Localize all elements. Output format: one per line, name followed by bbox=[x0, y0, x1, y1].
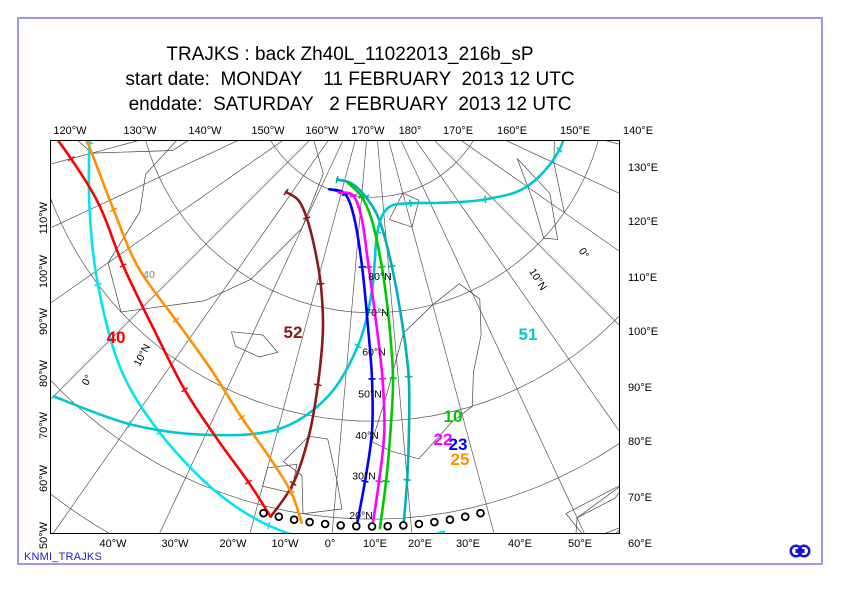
ecmwf-logo bbox=[789, 543, 811, 559]
axis-label-right-1: 120°E bbox=[628, 216, 658, 228]
axis-label-right-4: 90°E bbox=[628, 382, 652, 394]
axis-label-bottom-5: 10°E bbox=[363, 538, 387, 550]
axis-label-bottom-4: 0° bbox=[325, 538, 336, 550]
axis-label-top-4: 160°W bbox=[305, 125, 338, 137]
axis-label-top-0: 120°W bbox=[53, 125, 86, 137]
axis-label-left-0: 110°W bbox=[38, 202, 50, 234]
map-frame bbox=[50, 140, 620, 534]
axis-label-top-3: 150°W bbox=[251, 125, 284, 137]
axis-label-left-5: 60°W bbox=[38, 465, 50, 492]
axis-label-top-1: 130°W bbox=[123, 125, 156, 137]
axis-label-right-5: 80°E bbox=[628, 436, 652, 448]
axis-label-bottom-10: 60°E bbox=[628, 538, 652, 550]
footer-product-label: KNMI_TRAJKS bbox=[24, 551, 102, 563]
chart-title-line-3: enddate: SATURDAY 2 FEBRUARY 2013 12 UTC bbox=[0, 92, 700, 117]
axis-label-top-7: 170°E bbox=[443, 125, 473, 137]
axis-label-right-0: 130°E bbox=[628, 162, 658, 174]
axis-label-bottom-1: 30°W bbox=[161, 538, 188, 550]
axis-label-bottom-9: 50°E bbox=[568, 538, 592, 550]
application-window: TRAJKS : back Zh40L_11022013_216b_sP sta… bbox=[0, 0, 841, 595]
axis-label-right-2: 110°E bbox=[628, 272, 657, 284]
map-plot-area: 80°N70°N60°N50°N40°N30°N20°N10°N0°10°N0°… bbox=[50, 140, 620, 534]
chart-title-block: TRAJKS : back Zh40L_11022013_216b_sP sta… bbox=[0, 42, 700, 117]
axis-label-bottom-3: 10°W bbox=[271, 538, 298, 550]
axis-label-bottom-8: 40°E bbox=[508, 538, 532, 550]
axis-label-bottom-6: 20°E bbox=[408, 538, 432, 550]
axis-label-top-9: 150°E bbox=[560, 125, 590, 137]
axis-label-left-3: 80°W bbox=[38, 360, 50, 387]
chart-title-line-2: start date: MONDAY 11 FEBRUARY 2013 12 U… bbox=[0, 67, 700, 92]
axis-label-top-5: 170°W bbox=[351, 125, 384, 137]
axis-label-left-4: 70°W bbox=[38, 412, 50, 439]
axis-label-top-2: 140°W bbox=[188, 125, 221, 137]
axis-label-left-1: 100°W bbox=[38, 255, 50, 288]
axis-label-right-3: 100°E bbox=[628, 326, 658, 338]
axis-label-bottom-2: 20°W bbox=[219, 538, 246, 550]
axis-label-top-6: 180° bbox=[399, 125, 422, 137]
axis-label-left-6: 50°W bbox=[38, 522, 50, 549]
chart-title-line-1: TRAJKS : back Zh40L_11022013_216b_sP bbox=[0, 42, 700, 67]
axis-label-right-6: 70°E bbox=[628, 492, 652, 504]
axis-label-top-8: 160°E bbox=[497, 125, 527, 137]
axis-label-bottom-0: 40°W bbox=[99, 538, 126, 550]
axis-label-top-10: 140°E bbox=[623, 125, 653, 137]
axis-label-bottom-7: 30°E bbox=[456, 538, 480, 550]
axis-label-left-2: 90°W bbox=[38, 308, 50, 335]
